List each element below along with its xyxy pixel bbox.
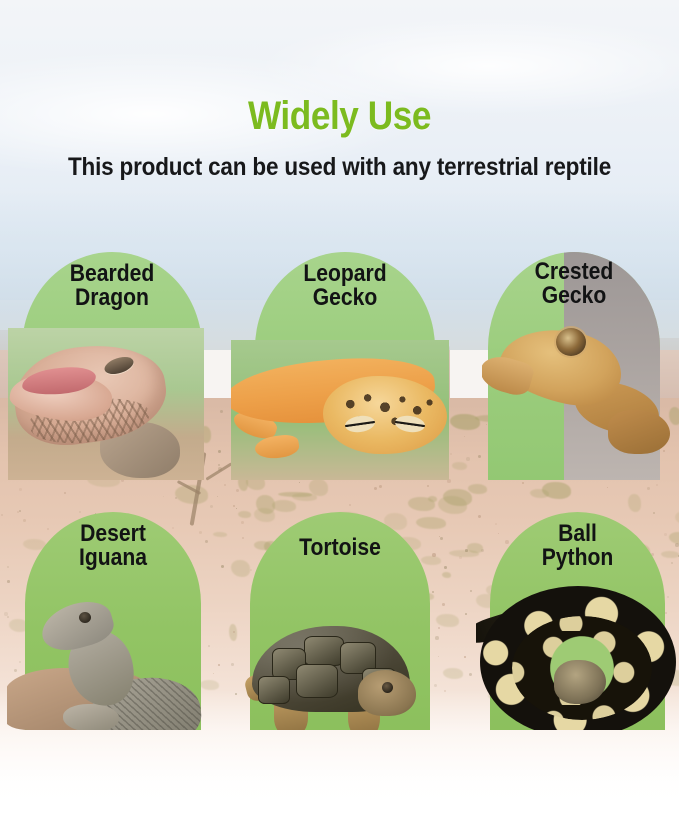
photo-tortoise bbox=[244, 546, 436, 730]
photo-bearded-dragon bbox=[8, 328, 204, 480]
card-ball-python[interactable]: Ball Python bbox=[490, 512, 665, 730]
card-label-leopard-gecko: Leopard Gecko bbox=[266, 262, 424, 311]
card-bearded-dragon[interactable]: Bearded Dragon bbox=[22, 252, 202, 480]
photo-crested-gecko bbox=[482, 306, 678, 466]
photo-leopard-gecko bbox=[231, 340, 449, 480]
card-label-bearded-dragon: Bearded Dragon bbox=[33, 262, 191, 311]
page-title: Widely Use bbox=[41, 96, 639, 136]
card-label-ball-python: Ball Python bbox=[501, 522, 655, 571]
card-label-crested-gecko: Crested Gecko bbox=[498, 260, 649, 309]
card-tortoise[interactable]: Tortoise bbox=[250, 512, 430, 730]
photo-desert-iguana bbox=[7, 552, 215, 730]
page-subtitle: This product can be used with any terres… bbox=[34, 155, 645, 180]
card-label-desert-iguana: Desert Iguana bbox=[36, 522, 191, 571]
card-desert-iguana[interactable]: Desert Iguana bbox=[25, 512, 201, 730]
card-label-tortoise: Tortoise bbox=[261, 536, 419, 560]
poster-headings: Widely Use This product can be used with… bbox=[0, 96, 679, 180]
card-crested-gecko[interactable]: Crested Gecko bbox=[488, 252, 660, 480]
widely-use-poster: Widely Use This product can be used with… bbox=[0, 0, 679, 814]
card-leopard-gecko[interactable]: Leopard Gecko bbox=[255, 252, 435, 480]
